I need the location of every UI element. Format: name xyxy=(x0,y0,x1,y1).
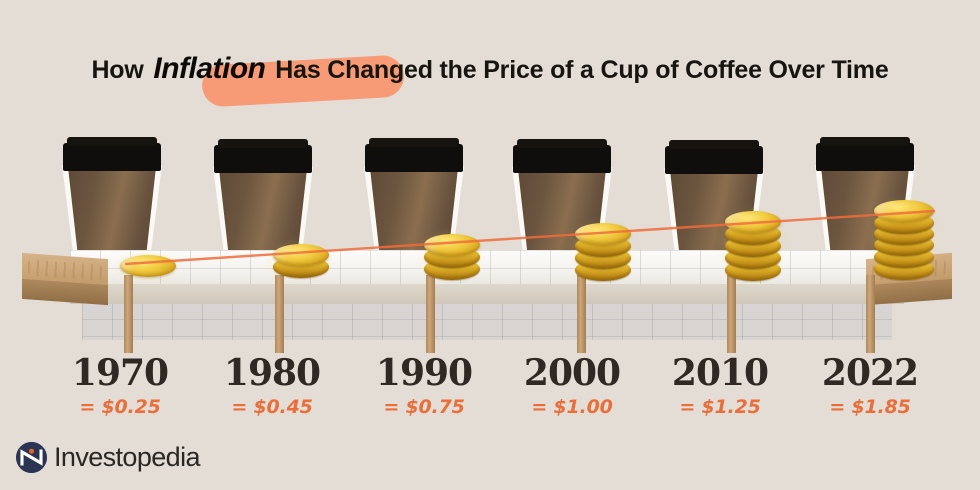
wood-grain xyxy=(28,259,102,280)
label-column-1980: 1980 = $0.45 xyxy=(192,355,352,417)
year-label: 1990 xyxy=(344,355,504,391)
cup-lid xyxy=(365,144,463,172)
shelf-post-1970 xyxy=(124,275,133,353)
shelf-post-1990 xyxy=(426,275,435,353)
title-emphasis-text: Inflation xyxy=(153,52,265,85)
label-column-2022: 2022 = $1.85 xyxy=(790,355,950,417)
coin-stack-1970 xyxy=(120,255,176,279)
cup-lid xyxy=(816,143,914,171)
price-label: = $0.75 xyxy=(344,398,504,417)
year-label: 2010 xyxy=(640,355,800,391)
price-label: = $0.25 xyxy=(40,398,200,417)
year-label: 2000 xyxy=(492,355,652,391)
coin-stack-2000 xyxy=(575,223,631,280)
label-column-1990: 1990 = $0.75 xyxy=(344,355,504,417)
price-label: = $0.45 xyxy=(192,398,352,417)
page-title: How Inflation Has Changed the Price of a… xyxy=(0,52,980,86)
coin-stack-2010 xyxy=(725,211,781,280)
year-label: 2022 xyxy=(790,355,950,391)
cup-lid xyxy=(513,145,611,173)
price-label: = $1.00 xyxy=(492,398,652,417)
cup-lid xyxy=(214,145,312,173)
coin-stack-1990 xyxy=(424,234,480,280)
coin xyxy=(120,255,176,277)
coin xyxy=(874,200,934,222)
coin-stack-2022 xyxy=(874,200,934,280)
cup-lid xyxy=(665,146,763,174)
coin xyxy=(273,244,329,266)
brand-logo[interactable]: Investopedia xyxy=(16,442,200,473)
shelf-wood-end-left xyxy=(22,253,108,305)
investopedia-logo-icon xyxy=(16,442,47,473)
coin xyxy=(575,223,631,245)
cup-lid xyxy=(63,143,161,171)
coin xyxy=(424,234,480,256)
shelf-post-1980 xyxy=(275,275,284,353)
brand-name: Investopedia xyxy=(54,444,200,471)
shelf-post-2022 xyxy=(866,275,875,353)
price-label: = $1.25 xyxy=(640,398,800,417)
shelf-front-edge xyxy=(70,284,904,304)
title-before: How xyxy=(91,56,150,84)
title-emphasis-inflation: Inflation xyxy=(150,52,268,86)
shelf-post-2010 xyxy=(727,275,736,353)
label-column-2000: 2000 = $1.00 xyxy=(492,355,652,417)
year-label: 1980 xyxy=(192,355,352,391)
shelf-post-2000 xyxy=(577,275,586,353)
year-label: 1970 xyxy=(40,355,200,391)
coin xyxy=(725,211,781,233)
title-after: Has Changed the Price of a Cup of Coffee… xyxy=(269,56,889,84)
shelf-lower-grid xyxy=(82,302,892,340)
label-column-2010: 2010 = $1.25 xyxy=(640,355,800,417)
title-line: How Inflation Has Changed the Price of a… xyxy=(91,52,888,86)
label-column-1970: 1970 = $0.25 xyxy=(40,355,200,417)
infographic-canvas: How Inflation Has Changed the Price of a… xyxy=(0,0,980,490)
price-label: = $1.85 xyxy=(790,398,950,417)
coin-stack-1980 xyxy=(273,244,329,280)
